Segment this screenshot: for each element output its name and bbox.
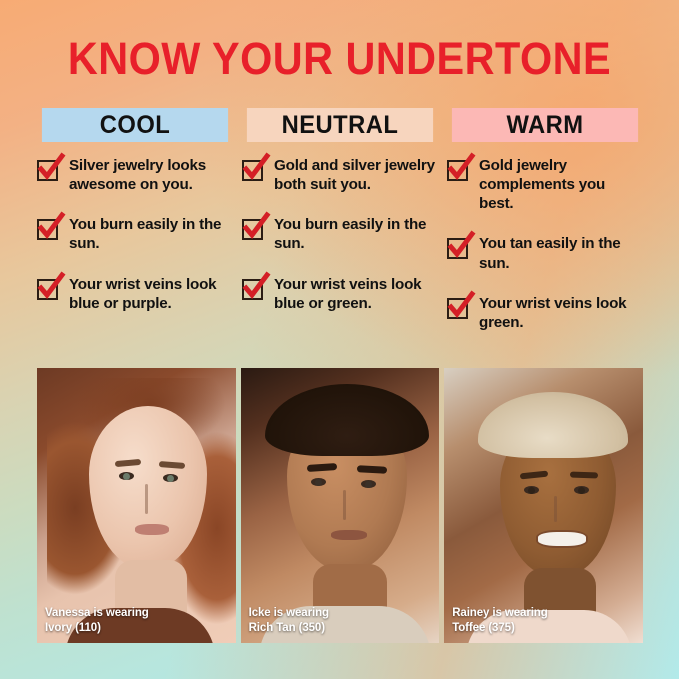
caption-line-1: Icke is wearing [249,606,329,620]
checkmark-icon [242,217,265,240]
checklist-neutral: Gold and silver jewelry both suit you. Y… [242,156,438,313]
list-item[interactable]: You burn easily in the sun. [242,215,438,253]
list-item[interactable]: You burn easily in the sun. [37,215,233,253]
list-item-label: Your wrist veins look blue or purple. [69,275,233,313]
list-item[interactable]: Gold and silver jewelry both suit you. [242,156,438,194]
caption-line-1: Rainey is wearing [452,606,547,620]
checklist-warm: Gold jewelry complements you best. You t… [447,156,643,332]
checkmark-icon [447,296,470,319]
model-photo-warm: Rainey is wearing Toffee (375) [444,368,643,643]
list-item[interactable]: Your wrist veins look blue or green. [242,275,438,313]
list-item[interactable]: Your wrist veins look blue or purple. [37,275,233,313]
checkmark-icon [242,158,265,181]
column-header-warm: WARM [452,108,638,142]
model-photo-row: Vanessa is wearing Ivory (110) Icke is w… [37,368,643,643]
checkmark-icon [37,217,60,240]
list-item[interactable]: Gold jewelry complements you best. [447,156,643,213]
list-item-label: You burn easily in the sun. [274,215,438,253]
caption-line-2: Ivory (110) [45,621,149,635]
photo-caption-warm: Rainey is wearing Toffee (375) [444,600,555,643]
photo-caption-neutral: Icke is wearing Rich Tan (350) [241,600,337,643]
checkmark-icon [242,277,265,300]
caption-line-2: Rich Tan (350) [249,621,329,635]
caption-line-1: Vanessa is wearing [45,606,149,620]
list-item-label: Your wrist veins look green. [479,294,643,332]
list-item[interactable]: You tan easily in the sun. [447,234,643,272]
model-photo-neutral: Icke is wearing Rich Tan (350) [241,368,440,643]
checkmark-icon [447,158,470,181]
list-item[interactable]: Silver jewelry looks awesome on you. [37,156,233,194]
column-header-cool: COOL [42,108,228,142]
list-item-label: Silver jewelry looks awesome on you. [69,156,233,194]
column-header-neutral: NEUTRAL [247,108,433,142]
list-item[interactable]: Your wrist veins look green. [447,294,643,332]
list-item-label: You tan easily in the sun. [479,234,643,272]
list-item-label: Gold jewelry complements you best. [479,156,643,213]
caption-line-2: Toffee (375) [452,621,547,635]
checkmark-icon [37,277,60,300]
undertone-columns: COOL Silver jewelry looks awesome on you… [37,108,643,332]
column-neutral: NEUTRAL Gold and silver jewelry both sui… [242,108,438,332]
list-item-label: You burn easily in the sun. [69,215,233,253]
model-photo-cool: Vanessa is wearing Ivory (110) [37,368,236,643]
checkmark-icon [447,236,470,259]
page-title: KNOW YOUR UNDERTONE [27,36,652,81]
face [89,406,207,568]
column-cool: COOL Silver jewelry looks awesome on you… [37,108,233,332]
checkmark-icon [37,158,60,181]
infographic-page: KNOW YOUR UNDERTONE COOL Silver jewelry … [0,0,679,679]
checklist-cool: Silver jewelry looks awesome on you. You… [37,156,233,313]
photo-caption-cool: Vanessa is wearing Ivory (110) [37,600,157,643]
list-item-label: Gold and silver jewelry both suit you. [274,156,438,194]
column-warm: WARM Gold jewelry complements you best. … [447,108,643,332]
list-item-label: Your wrist veins look blue or green. [274,275,438,313]
